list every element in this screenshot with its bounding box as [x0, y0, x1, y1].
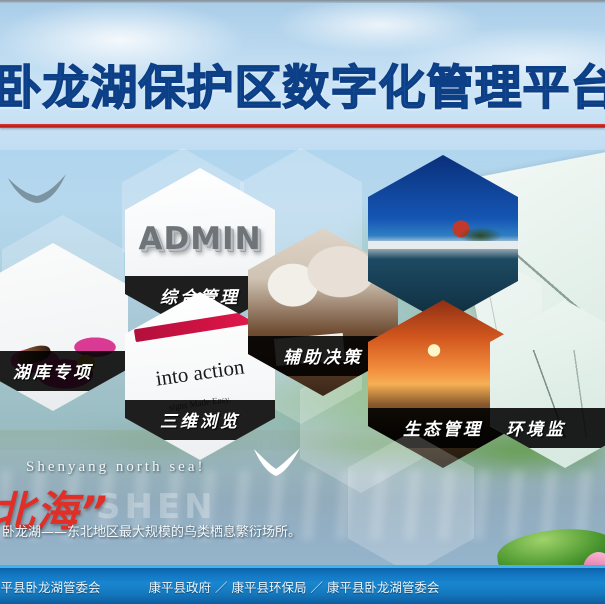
footer-bar: 康平县卧龙湖管委会 康平县政府 ／ 康平县环保局 ／ 康平县卧龙湖管委会: [0, 565, 605, 604]
caption-english: Shenyang north sea!: [26, 459, 205, 476]
page-title-wrap: 卧龙湖保护区数字化管理平台: [0, 52, 605, 114]
footer-organization[interactable]: 康平县卧龙湖管委会: [0, 577, 101, 596]
into-action-headline: into action: [154, 354, 246, 391]
header-divider-rule: [0, 124, 605, 128]
flying-bird-icon: [6, 170, 70, 210]
caption-chinese: 卧龙湖——东北地区最大规模的鸟类栖息繁衍场所。: [2, 521, 301, 540]
footer-links[interactable]: 康平县政府 ／ 康平县环保局 ／ 康平县卧龙湖管委会: [149, 577, 440, 596]
app-stage: 卧龙湖保护区数字化管理平台 湖库专项 ADMIN 综合管理 into actio…: [0, 0, 605, 604]
bridge-railing: [368, 241, 518, 249]
top-border: [0, 0, 605, 3]
lotus-plant: [495, 512, 605, 572]
seagull-icon: [252, 447, 304, 481]
page-title: 卧龙湖保护区数字化管理平台: [0, 52, 605, 114]
admin-word-art: ADMIN: [138, 221, 261, 257]
